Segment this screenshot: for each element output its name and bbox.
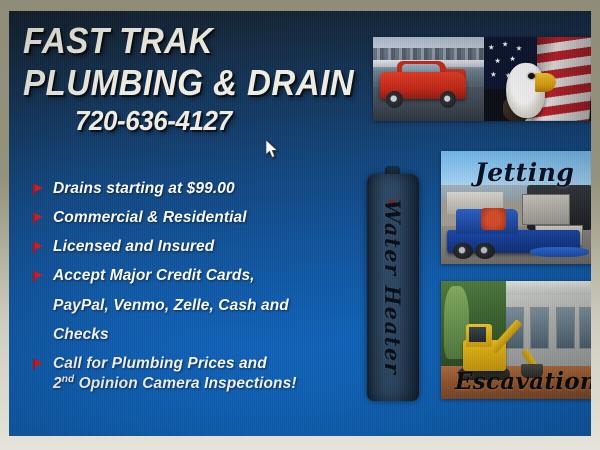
list-item: Accept Major Credit Cards, — [33, 266, 353, 286]
call-to-action-text: Call for Plumbing Prices and 2nd Opinion… — [53, 354, 297, 394]
flag-star-icon — [516, 45, 522, 51]
list-item-continuation: PayPal, Venmo, Zelle, Cash and — [33, 296, 353, 316]
company-name-line-2: PLUMBING & DRAIN — [23, 65, 354, 101]
flag-star-icon — [490, 71, 496, 77]
list-item: Licensed and Insured — [33, 237, 353, 257]
bald-eagle-icon — [503, 54, 554, 118]
building-window — [556, 307, 575, 349]
grandstand — [373, 48, 484, 60]
water-heater-graphic: Water Heater — [367, 166, 419, 401]
service-label: Accept Major Credit Cards, — [53, 266, 255, 286]
service-label: Licensed and Insured — [53, 237, 214, 257]
water-heater-tank: Water Heater — [367, 174, 419, 401]
payment-methods-line: PayPal, Venmo, Zelle, Cash and — [53, 296, 289, 316]
cta-ordinal-suffix: nd — [62, 374, 74, 385]
company-name-line-1: FAST TRAK — [23, 23, 354, 59]
service-label: Drains starting at $99.00 — [53, 179, 235, 199]
jetting-caption: Jetting — [475, 158, 574, 187]
trailer-wheel — [475, 243, 495, 260]
services-list: Drains starting at $99.00 Commercial & R… — [33, 179, 353, 403]
list-item-continuation: Checks — [33, 325, 353, 345]
drag-strip-car-photo — [373, 37, 484, 121]
eagle-flag-photo — [484, 37, 591, 121]
excavation-caption: Escavation — [455, 368, 591, 395]
hose-coil — [530, 247, 589, 257]
red-flag-bullet-icon — [33, 184, 44, 197]
car-wheel-rear — [440, 91, 457, 108]
building-roofline — [503, 281, 591, 295]
eagle-beak — [535, 73, 556, 92]
advertisement-sign: FAST TRAK PLUMBING & DRAIN 720-636-4127 … — [9, 11, 591, 436]
payment-methods-line-2: Checks — [53, 325, 109, 345]
building-window — [530, 307, 549, 349]
hose-reel — [481, 208, 506, 231]
photographed-frame: FAST TRAK PLUMBING & DRAIN 720-636-4127 … — [0, 0, 600, 450]
cta-line-1: Call for Plumbing Prices and — [53, 355, 267, 372]
red-flag-bullet-icon — [33, 213, 44, 226]
headline-block: FAST TRAK PLUMBING & DRAIN 720-636-4127 — [23, 23, 383, 137]
flag-star-icon — [495, 58, 501, 64]
list-item: Commercial & Residential — [33, 208, 353, 228]
equipment-box — [522, 194, 570, 225]
red-flag-bullet-icon — [33, 242, 44, 255]
phone-number[interactable]: 720-636-4127 — [75, 105, 361, 137]
service-label: Commercial & Residential — [53, 208, 247, 228]
red-flag-bullet-icon — [33, 359, 44, 372]
flag-star-icon — [502, 41, 508, 47]
car-wheel-front — [386, 91, 403, 108]
water-heater-label: Water Heater — [367, 174, 419, 401]
building-window — [579, 307, 591, 349]
call-to-action-item: Call for Plumbing Prices and 2nd Opinion… — [33, 354, 353, 394]
cta-line-2-prefix: 2 — [53, 375, 62, 392]
red-flag-bullet-icon — [33, 271, 44, 284]
excavator-cab-glass — [469, 327, 486, 342]
photo-excavation: Escavation — [441, 281, 591, 399]
flag-star-icon — [488, 44, 494, 50]
cta-line-2-suffix: Opinion Camera Inspections! — [74, 375, 296, 392]
photo-jetting: Jetting — [441, 151, 591, 264]
list-item: Drains starting at $99.00 — [33, 179, 353, 199]
photo-car-and-eagle — [373, 37, 591, 121]
